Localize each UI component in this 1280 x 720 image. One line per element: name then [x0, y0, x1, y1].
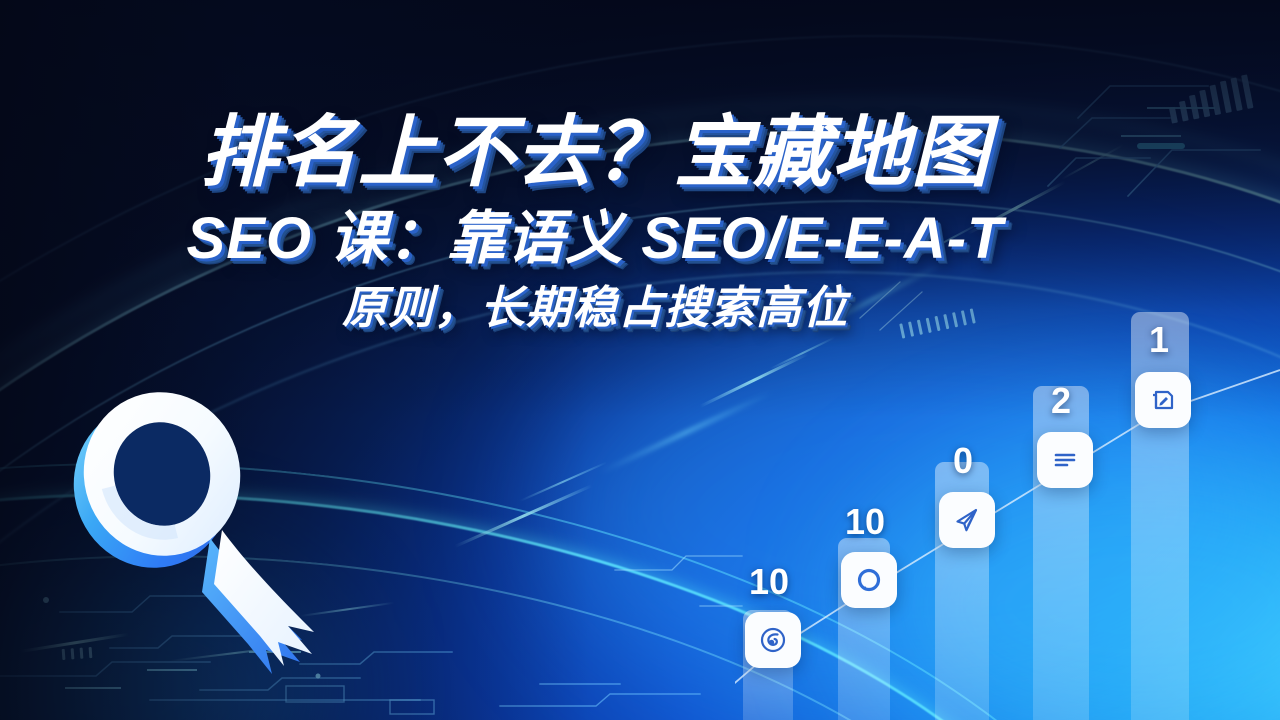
swirl-circle-icon: [758, 625, 788, 655]
chart-icon-chip: [745, 612, 801, 668]
light-streak: [520, 461, 608, 501]
chart-icon-chip: [1037, 432, 1093, 488]
chart-value-label: 10: [741, 564, 797, 600]
document-edit-icon: [1148, 385, 1178, 415]
light-streak: [454, 484, 592, 548]
text-lines-icon: [1050, 445, 1080, 475]
magnifying-glass-with-down-arrow-icon: [62, 378, 402, 678]
banner-stage: 排名上不去？宝藏地图 SEO 课：靠语义 SEO/E-E-A-T 原则，长期稳占…: [0, 0, 1280, 720]
chart-icon-chip: [939, 492, 995, 548]
headline-line-1: 排名上不去？宝藏地图: [0, 112, 1190, 193]
chart-icon-chip: [1135, 372, 1191, 428]
magnifying-glass-graphic: [62, 378, 402, 678]
ring-circle-icon: [854, 565, 884, 595]
chart-icon-chip: [841, 552, 897, 608]
paper-plane-icon: [952, 505, 982, 535]
chart-value-label: 10: [837, 504, 893, 540]
chart-value-label: 2: [1033, 383, 1089, 419]
headline-block: 排名上不去？宝藏地图 SEO 课：靠语义 SEO/E-E-A-T 原则，长期稳占…: [0, 112, 1190, 332]
bar-chart: 10 10 0 2 1: [735, 300, 1280, 720]
headline-line-2: SEO 课：靠语义 SEO/E-E-A-T: [0, 209, 1190, 269]
chart-value-label: 0: [935, 443, 991, 479]
headline-line-3: 原则，长期稳占搜索高位: [0, 285, 1190, 332]
chart-trend-line: [735, 300, 1280, 720]
